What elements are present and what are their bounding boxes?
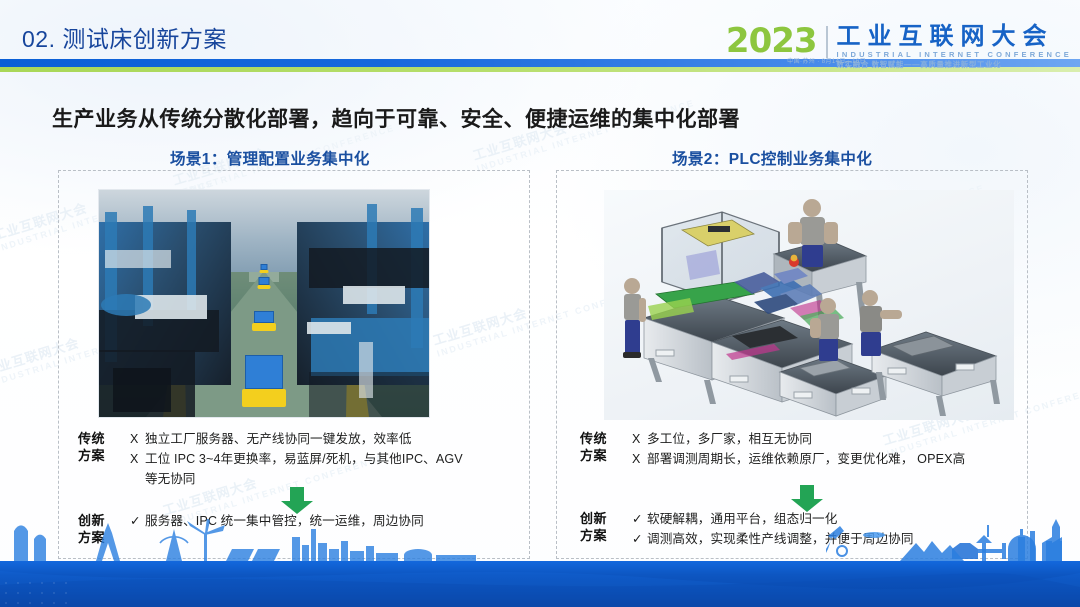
agv-mid (252, 311, 276, 331)
eiffel-tower-icon (96, 523, 120, 561)
agv-bin (254, 311, 274, 323)
cross-marker-icon: X (632, 450, 647, 469)
rack-leg (359, 342, 373, 398)
scene-1-traditional-block: 传统 方案 X 独立工厂服务器、无产线协同一键发放，效率低 X 工位 IPC 3… (78, 430, 463, 489)
list-item-text: 多工位，多厂家，相互无协同 (647, 430, 812, 449)
bottom-band (0, 561, 1080, 607)
production-line-cad-image (604, 190, 1014, 420)
logo-date: 中国·苏州 · 8月14日—16日 (787, 56, 866, 65)
logo-divider (826, 26, 828, 58)
agv-chassis (242, 389, 286, 407)
scene-2-title: 场景2：PLC控制业务集中化 (672, 147, 872, 169)
logo-year: 2023 (726, 24, 817, 58)
worktable (307, 322, 351, 334)
tower-silhouette (14, 525, 28, 561)
list-item-text: 部署调测周期长，运维依赖原厂，变更优化难， OPEX高 (647, 450, 965, 469)
arrow-svg (790, 485, 824, 513)
arrow-svg (280, 487, 314, 515)
list-item-text: 工位 IPC 3~4年更换率，易蓝屏/死机，与其他IPC、AGV (145, 450, 463, 469)
list-item: X 独立工厂服务器、无产线协同一键发放，效率低 (130, 430, 463, 449)
agv-chassis (252, 323, 276, 331)
robot-arm-icon (826, 526, 844, 553)
conference-logo: 2023 工业互联网大会 INDUSTRIAL INTERNET CONFERE… (726, 24, 1072, 68)
scene-2-traditional-label: 传统 方案 (580, 430, 624, 464)
slide-root: 工业互联网大会 INDUSTRIAL INTERNET CONFERENCE 工… (0, 0, 1080, 607)
agv-farthest (260, 264, 269, 273)
label-line-2: 方案 (580, 447, 624, 464)
mountain-silhouette (900, 541, 964, 561)
agv-chassis (258, 285, 271, 289)
agv-bin (245, 355, 283, 389)
scene-2-traditional-list: X 多工位，多厂家，相互无协同 X 部署调测周期长，运维依赖原厂，变更优化难， … (632, 430, 965, 470)
machine-body (309, 248, 429, 288)
agv-far (258, 277, 271, 289)
list-item-text: 独立工厂服务器、无产线协同一键发放，效率低 (145, 430, 412, 449)
scene-1-traditional-label: 传统 方案 (78, 430, 122, 464)
list-item: X 部署调测周期长，运维依赖原厂，变更优化难， OPEX高 (632, 450, 965, 469)
slide-header: 02. 测试床创新方案 2023 工业互联网大会 INDUSTRIAL INTE… (0, 0, 1080, 70)
worktable (343, 286, 405, 304)
city-skyline-decoration (0, 519, 1080, 561)
machine-round (101, 294, 151, 316)
cad-canvas (604, 190, 1014, 420)
agv-chassis (260, 270, 269, 273)
main-headline: 生产业务从传统分散化部署，趋向于可靠、安全、便捷运维的集中化部署 (52, 103, 740, 133)
worker-figure (623, 278, 646, 358)
logo-title-en: INDUSTRIAL INTERNET CONFERENCE (837, 50, 1072, 60)
label-line-2: 方案 (78, 447, 122, 464)
list-item: X 工位 IPC 3~4年更换率，易蓝屏/死机，与其他IPC、AGV (130, 450, 463, 469)
cross-marker-icon: X (130, 430, 145, 449)
workstation-5 (872, 332, 1000, 416)
page-title: 02. 测试床创新方案 (22, 20, 227, 54)
factory-floor-photo (98, 189, 430, 418)
scene-1-traditional-list: X 独立工厂服务器、无产线协同一键发放，效率低 X 工位 IPC 3~4年更换率… (130, 430, 463, 489)
logo-subtitle-cn: 数实融合 数智赋能——高质量推进新型工业化 (837, 60, 1072, 70)
cross-marker-icon: X (632, 430, 647, 449)
label-line-1: 传统 (580, 430, 624, 447)
scene-1-title: 场景1：管理配置业务集中化 (170, 147, 370, 169)
logo-title-cn: 工业互联网大会 (837, 24, 1072, 50)
cad-svg (604, 190, 1014, 420)
agv-bin (259, 277, 270, 285)
factory-photo-canvas (99, 190, 429, 417)
worktable (105, 250, 171, 268)
label-line-1: 传统 (78, 430, 122, 447)
agv-near (242, 355, 286, 407)
list-item: X 多工位，多厂家，相互无协同 (632, 430, 965, 449)
cross-marker-icon: X (130, 450, 145, 469)
logo-text-group: 工业互联网大会 INDUSTRIAL INTERNET CONFERENCE 数… (837, 24, 1072, 70)
crate (113, 368, 171, 412)
scene-2-traditional-block: 传统 方案 X 多工位，多厂家，相互无协同 X 部署调测周期长，运维依赖原厂，变… (580, 430, 965, 470)
dot-grid-decoration (0, 577, 300, 607)
